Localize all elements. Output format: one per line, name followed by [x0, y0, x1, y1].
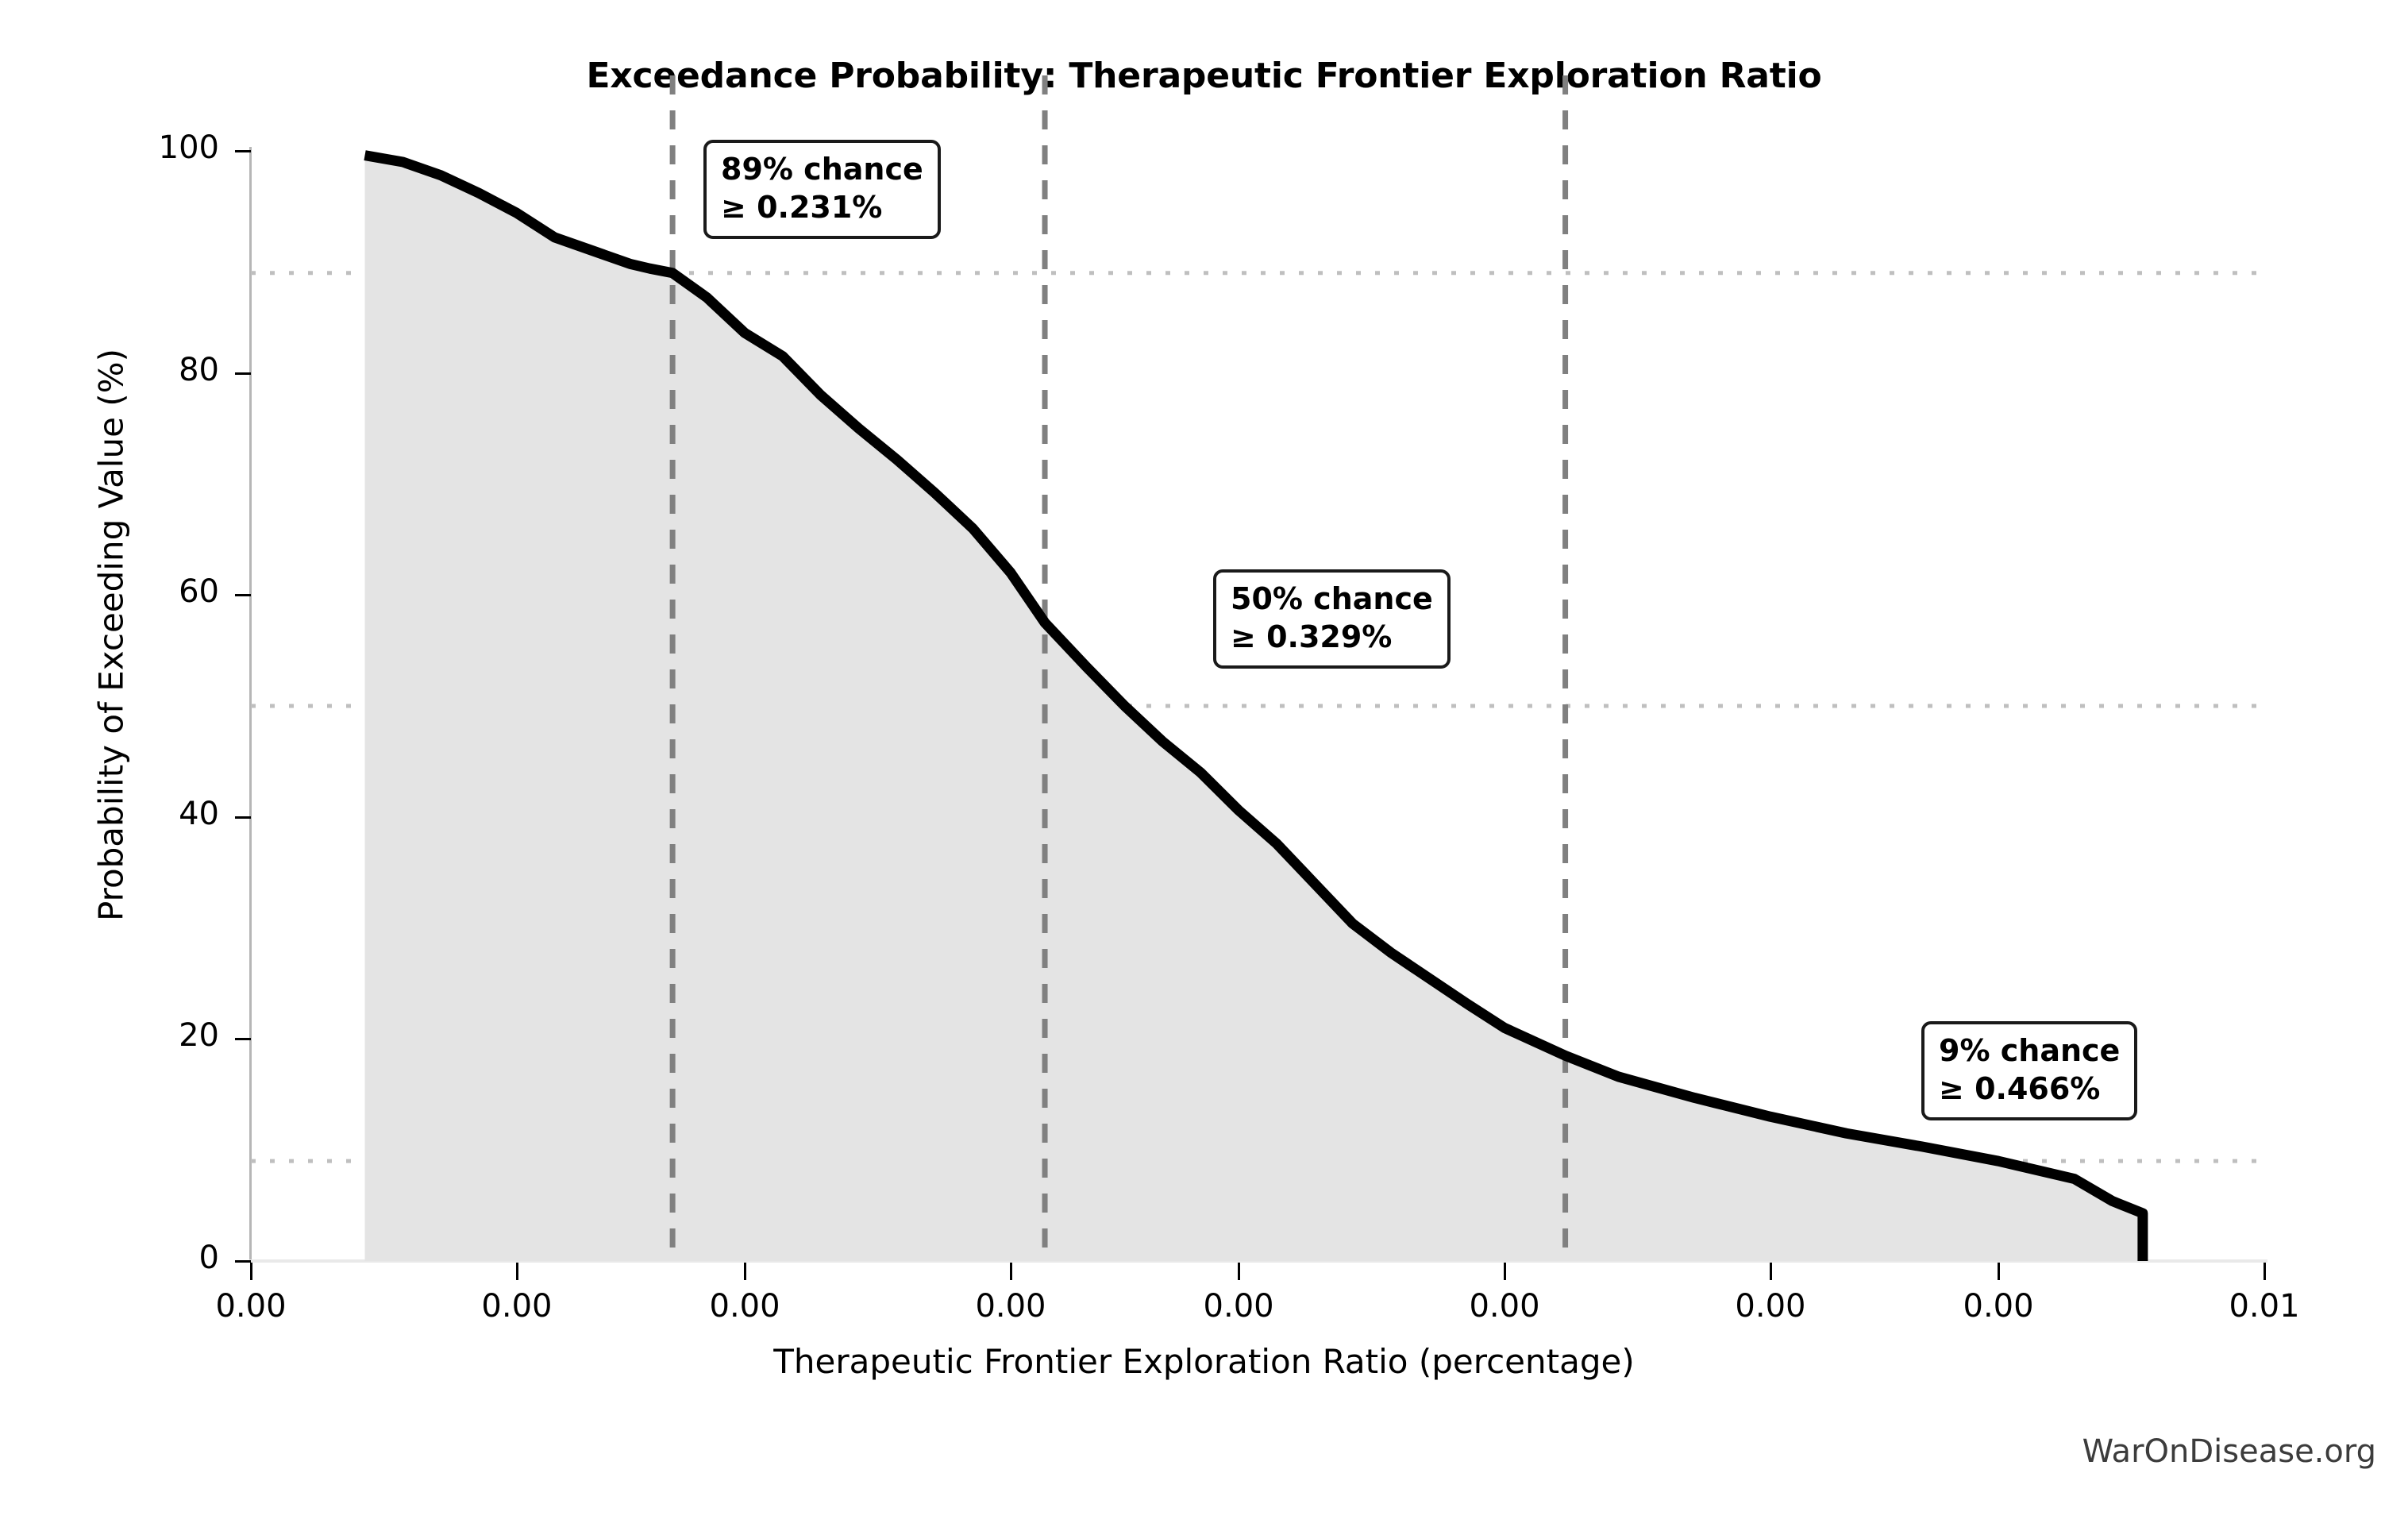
x-tick-mark	[1998, 1263, 2000, 1280]
annotation-box-2: 50% chance≥ 0.329%	[1213, 569, 1451, 669]
y-tick-mark	[235, 150, 251, 152]
x-axis-label: Therapeutic Frontier Exploration Ratio (…	[0, 1342, 2408, 1381]
x-tick-label: 0.00	[1683, 1290, 1858, 1322]
y-tick-mark	[235, 1038, 251, 1040]
x-tick-mark	[1238, 1263, 1240, 1280]
chart-title: Exceedance Probability: Therapeutic Fron…	[0, 56, 2408, 96]
x-tick-mark	[2264, 1263, 2266, 1280]
x-tick-label: 0.00	[164, 1290, 338, 1322]
annotation-value-line: ≥ 0.231%	[721, 189, 923, 227]
x-tick-label: 0.00	[923, 1290, 1098, 1322]
y-tick-mark	[235, 1260, 251, 1263]
y-tick-label: 60	[60, 576, 219, 607]
annotation-box-3: 9% chance≥ 0.466%	[1921, 1021, 2137, 1120]
x-tick-mark	[1504, 1263, 1506, 1280]
y-tick-label: 0	[60, 1242, 219, 1274]
y-tick-mark	[235, 372, 251, 375]
y-tick-mark	[235, 816, 251, 819]
annotation-value-line: ≥ 0.329%	[1231, 619, 1433, 657]
y-tick-label: 100	[60, 132, 219, 164]
y-tick-label: 20	[60, 1020, 219, 1051]
chart-figure: Exceedance Probability: Therapeutic Fron…	[0, 0, 2408, 1531]
x-tick-mark	[744, 1263, 746, 1280]
x-tick-mark	[1770, 1263, 1772, 1280]
x-tick-label: 0.00	[1417, 1290, 1592, 1322]
x-tick-label: 0.00	[657, 1290, 832, 1322]
y-tick-mark	[235, 594, 251, 596]
x-tick-mark	[1010, 1263, 1012, 1280]
exceedance-area	[365, 156, 2143, 1261]
x-tick-label: 0.00	[1151, 1290, 1326, 1322]
y-axis-label: Probability of Exceeding Value (%)	[92, 79, 131, 1191]
x-tick-label: 0.01	[2177, 1290, 2352, 1322]
annotation-value-line: ≥ 0.466%	[1939, 1070, 2120, 1109]
area-fill	[365, 156, 2143, 1261]
x-tick-label: 0.00	[430, 1290, 604, 1322]
x-tick-mark	[516, 1263, 518, 1280]
x-tick-mark	[250, 1263, 252, 1280]
annotation-chance-line: 89% chance	[721, 151, 923, 189]
y-tick-label: 80	[60, 354, 219, 386]
y-tick-label: 40	[60, 798, 219, 830]
x-tick-label: 0.00	[1911, 1290, 2086, 1322]
annotation-chance-line: 9% chance	[1939, 1032, 2120, 1070]
annotation-chance-line: 50% chance	[1231, 580, 1433, 619]
annotation-box-1: 89% chance≥ 0.231%	[703, 140, 941, 239]
watermark: WarOnDisease.org	[2082, 1433, 2376, 1470]
